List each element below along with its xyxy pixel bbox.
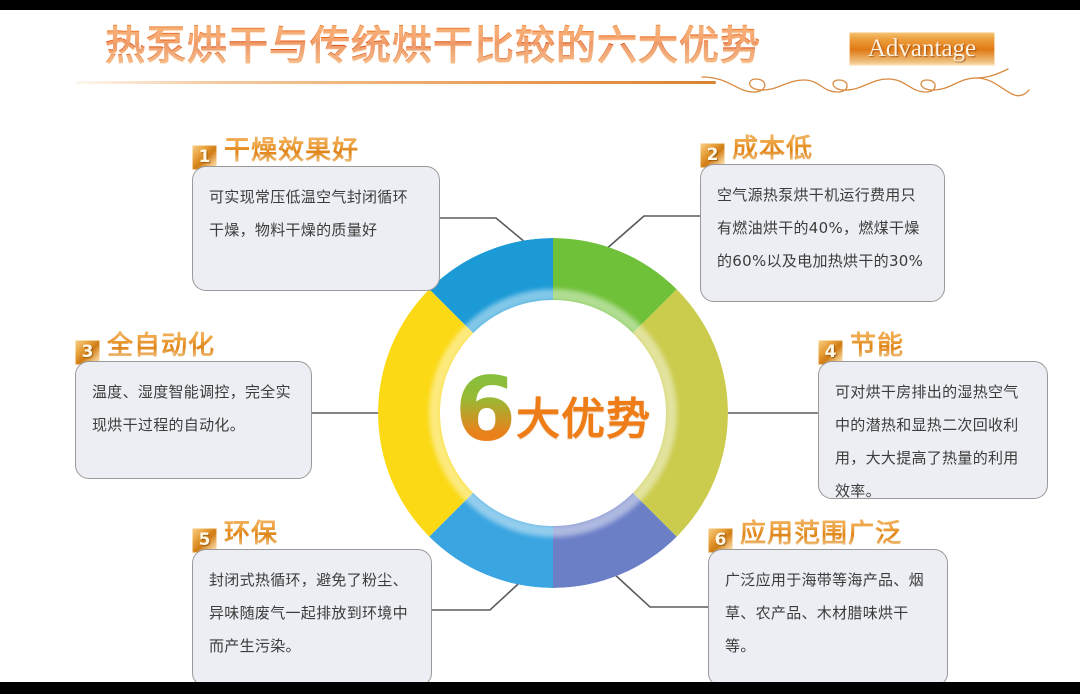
advantage-5-body: 封闭式热循环，避免了粉尘、异味随废气一起排放到环境中而产生污染。 <box>209 564 415 663</box>
advantage-5-title: 环保 <box>224 513 278 550</box>
advantage-4-body: 可对烘干房排出的湿热空气中的潜热和显热二次回收利用，大大提高了热量的利用效率。 <box>835 376 1031 508</box>
advantage-6-heading: 6应用范围广泛 <box>708 513 902 543</box>
advantage-5-box: 封闭式热循环，避免了粉尘、异味随废气一起排放到环境中而产生污染。 <box>192 549 432 682</box>
donut-chart: 6大优势 <box>378 238 728 588</box>
page-title: 热泵烘干与传统烘干比较的六大优势 <box>105 13 761 71</box>
advantage-2-heading: 2成本低 <box>700 128 813 158</box>
advantage-badge: Advantage <box>849 32 995 66</box>
donut-center-label: 6大优势 <box>378 366 728 454</box>
advantage-4-heading: 4节能 <box>818 325 904 355</box>
advantage-5-heading: 5环保 <box>192 513 278 543</box>
page-root: 热泵烘干与传统烘干比较的六大优势 Advantage <box>0 0 1080 694</box>
title-divider-rule <box>76 81 716 84</box>
center-text: 大优势 <box>516 394 651 445</box>
advantage-6-box: 广泛应用于海带等海产品、烟草、农产品、木材腊味烘干等。 <box>708 549 948 682</box>
advantage-1-body: 可实现常压低温空气封闭循环干燥，物料干燥的质量好 <box>209 181 423 247</box>
center-number: 6 <box>455 358 516 461</box>
advantage-1-box: 可实现常压低温空气封闭循环干燥，物料干燥的质量好 <box>192 166 440 291</box>
advantage-4-box: 可对烘干房排出的湿热空气中的潜热和显热二次回收利用，大大提高了热量的利用效率。 <box>818 361 1048 499</box>
advantage-2-body: 空气源热泵烘干机运行费用只有燃油烘干的40%，燃煤干燥的60%以及电加热烘干的3… <box>717 179 928 278</box>
advantage-2-title: 成本低 <box>732 128 813 165</box>
advantage-6-title: 应用范围广泛 <box>740 513 902 550</box>
advantage-1-title: 干燥效果好 <box>224 130 359 167</box>
advantage-1-heading: 1干燥效果好 <box>192 130 359 160</box>
title-flourish-ornament <box>700 68 1030 102</box>
advantage-3-body: 温度、湿度智能调控，完全实现烘干过程的自动化。 <box>92 376 295 442</box>
infographic-canvas: 热泵烘干与传统烘干比较的六大优势 Advantage <box>0 10 1080 682</box>
advantage-2-box: 空气源热泵烘干机运行费用只有燃油烘干的40%，燃煤干燥的60%以及电加热烘干的3… <box>700 164 945 302</box>
advantage-3-title: 全自动化 <box>107 325 215 362</box>
title-area: 热泵烘干与传统烘干比较的六大优势 Advantage <box>0 10 1080 102</box>
advantage-3-heading: 3全自动化 <box>75 325 215 355</box>
advantage-4-title: 节能 <box>850 325 904 362</box>
advantage-6-body: 广泛应用于海带等海产品、烟草、农产品、木材腊味烘干等。 <box>725 564 931 663</box>
advantage-3-box: 温度、湿度智能调控，完全实现烘干过程的自动化。 <box>75 361 312 479</box>
advantage-badge-label: Advantage <box>849 32 995 66</box>
